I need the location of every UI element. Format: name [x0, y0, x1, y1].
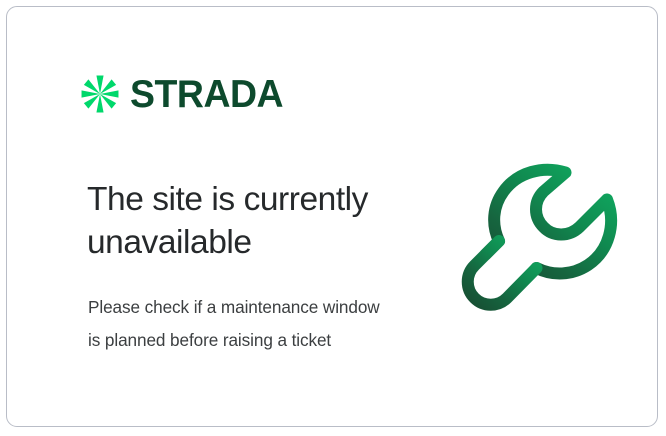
- status-description: Please check if a maintenance window is …: [88, 291, 393, 357]
- wrench-icon: [459, 159, 621, 319]
- page-title: The site is currently unavailable: [87, 179, 417, 263]
- brand-wordmark: STRADA: [130, 75, 283, 114]
- status-card: STRADA The site is currently unavailable…: [6, 6, 658, 427]
- screen-root: STRADA The site is currently unavailable…: [0, 0, 666, 436]
- wrench-illustration: [459, 159, 621, 319]
- strada-starburst-mark-icon: [79, 73, 121, 115]
- brand-logo-lockup[interactable]: STRADA: [79, 73, 290, 115]
